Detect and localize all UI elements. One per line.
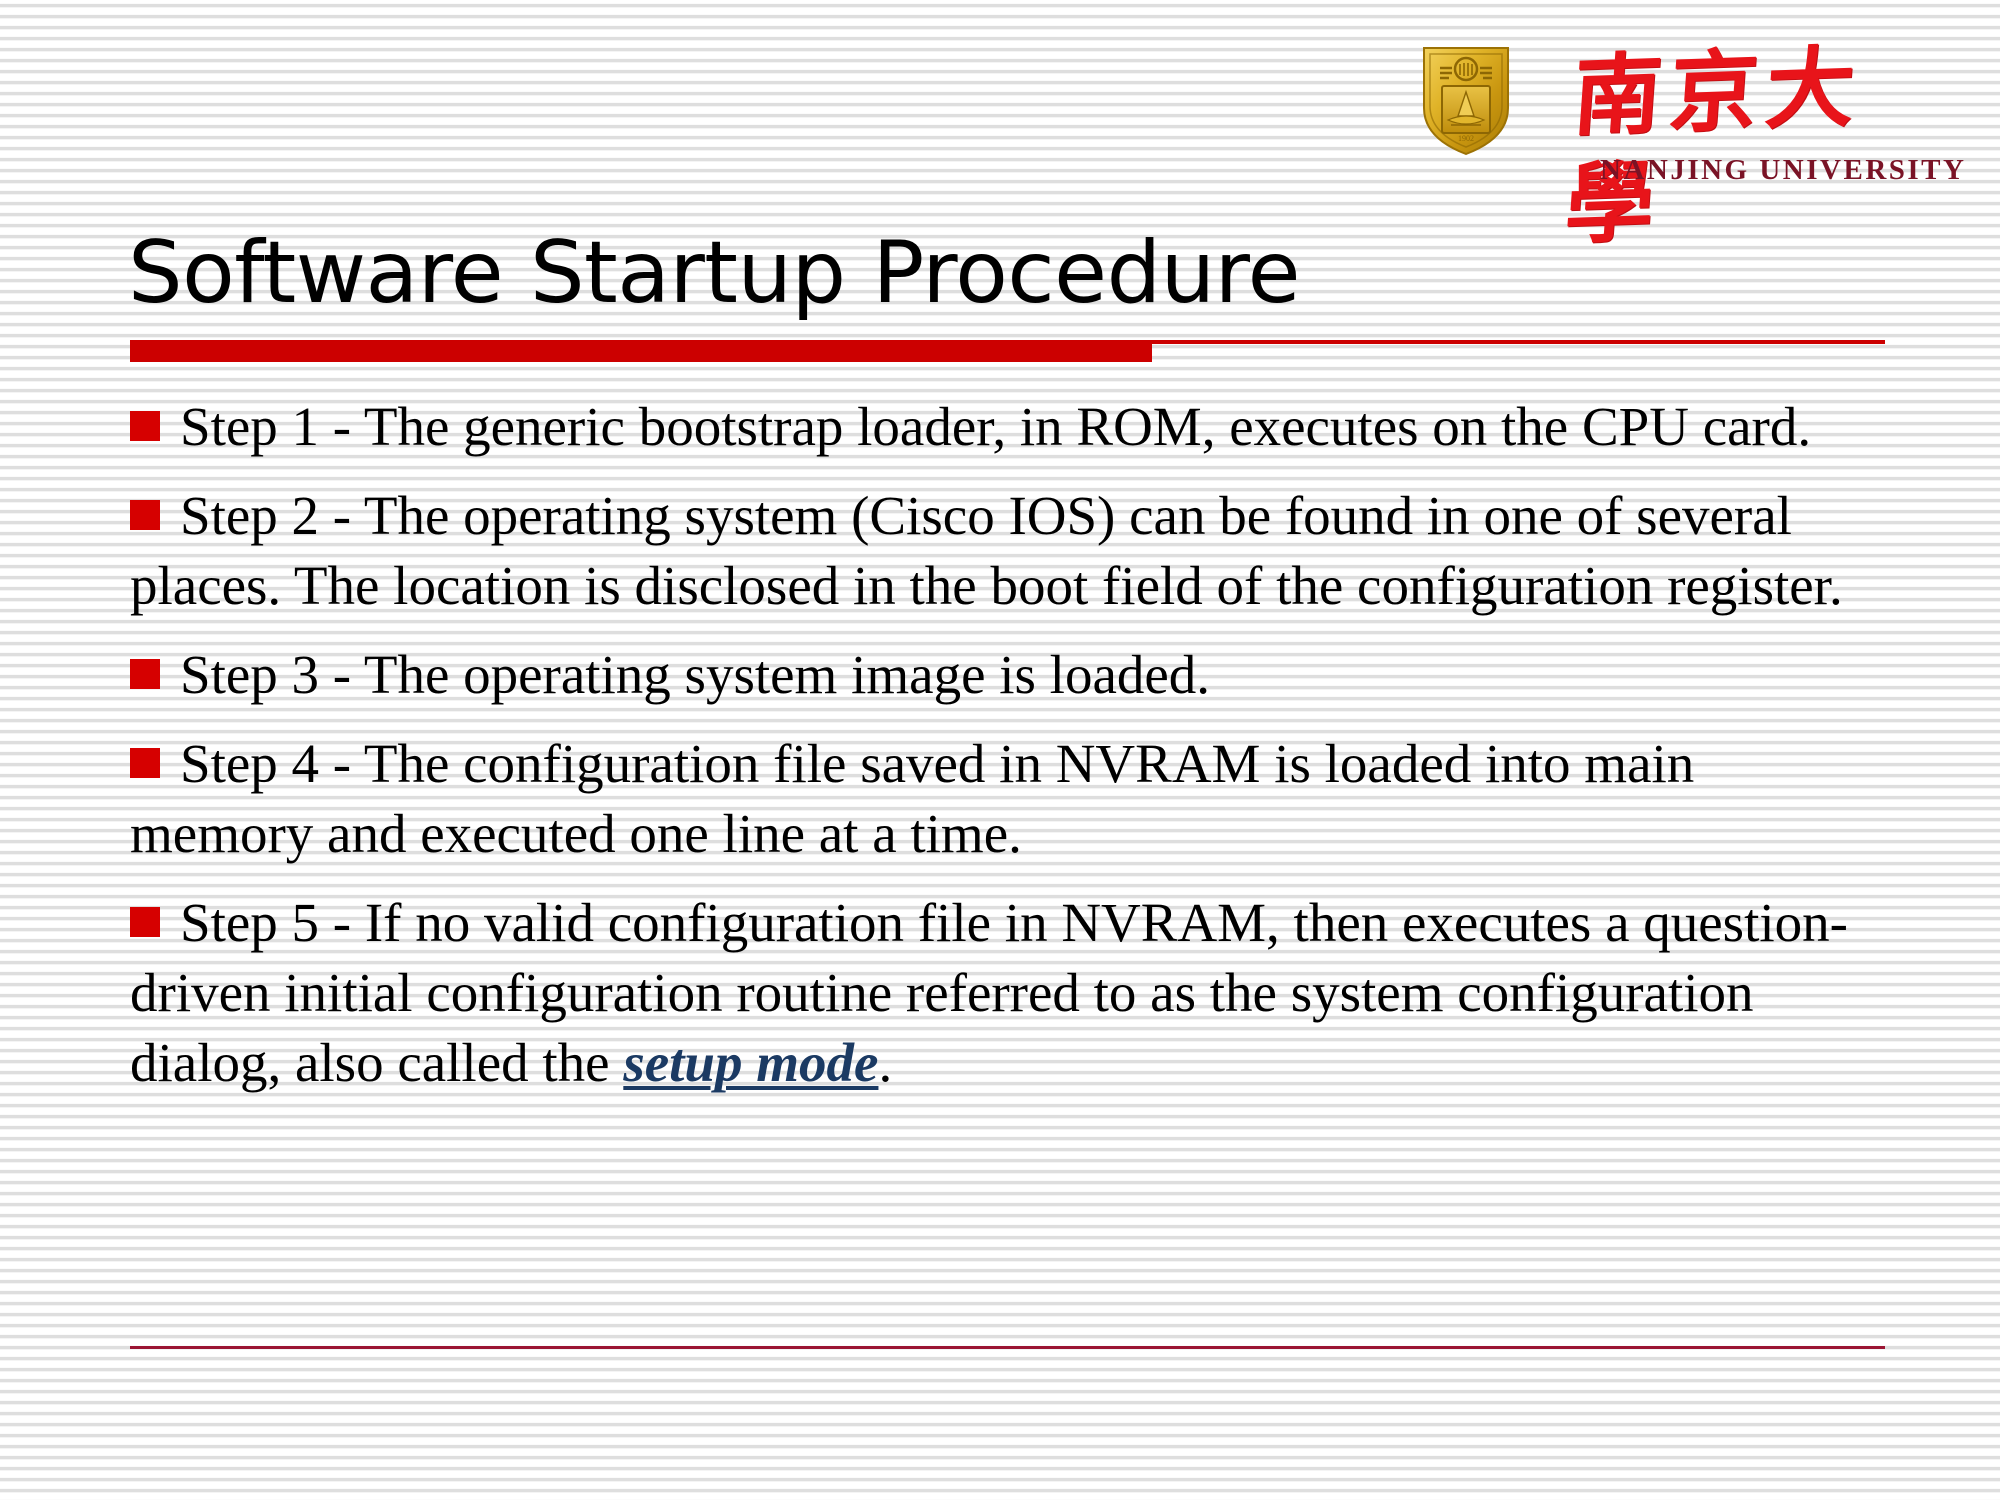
university-logo: 1902 南京大學 NANJING UNIVERSITY (1418, 36, 1918, 196)
red-square-bullet-icon (130, 907, 160, 937)
list-item-text: Step 1 - The generic bootstrap loader, i… (180, 396, 1811, 457)
list-item-text: Step 2 - The operating system (Cisco IOS… (130, 485, 1843, 616)
list-item-text: Step 3 - The operating system image is l… (180, 644, 1210, 705)
list-item-text-tail: . (878, 1032, 892, 1093)
list-item-text: Step 5 - If no valid configuration file … (130, 892, 1848, 1093)
university-english-name: NANJING UNIVERSITY (1600, 154, 1966, 187)
list-item: Step 3 - The operating system image is l… (130, 640, 1890, 710)
red-square-bullet-icon (130, 659, 160, 689)
page-title: Software Startup Procedure (128, 221, 1868, 325)
red-square-bullet-icon (130, 411, 160, 441)
nanjing-university-shield-icon: 1902 (1418, 42, 1514, 158)
setup-mode-link[interactable]: setup mode (623, 1032, 878, 1093)
university-chinese-name: 南京大學 (1570, 36, 1930, 148)
list-item: Step 1 - The generic bootstrap loader, i… (130, 392, 1890, 462)
footer-rule (130, 1346, 1885, 1349)
list-item: Step 2 - The operating system (Cisco IOS… (130, 481, 1890, 621)
red-square-bullet-icon (130, 748, 160, 778)
list-item-text: Step 4 - The configuration file saved in… (130, 733, 1694, 864)
svg-text:1902: 1902 (1458, 134, 1474, 143)
red-square-bullet-icon (130, 500, 160, 530)
list-item: Step 5 - If no valid configuration file … (130, 888, 1890, 1098)
slide-canvas: 1902 南京大學 NANJING UNIVERSITY Software St… (0, 0, 2000, 1500)
bullet-list: Step 1 - The generic bootstrap loader, i… (130, 392, 1890, 1098)
title-rule-thick (130, 340, 1152, 362)
list-item: Step 4 - The configuration file saved in… (130, 729, 1890, 869)
